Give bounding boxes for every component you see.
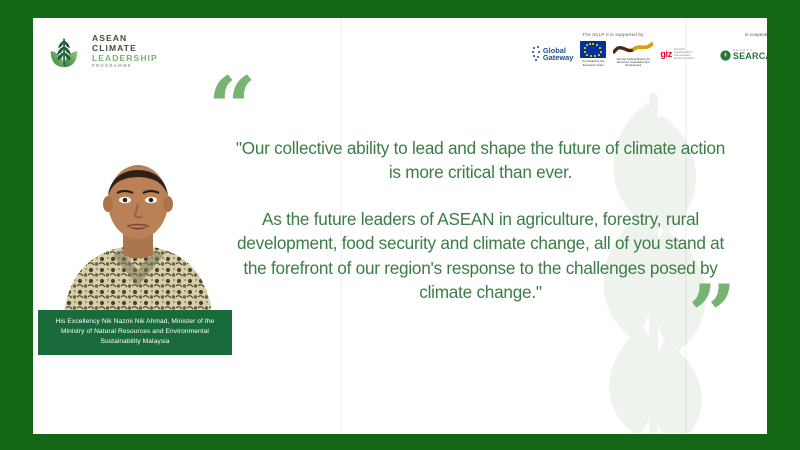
giz-wordmark: giz	[660, 49, 672, 59]
quote-text-block: "Our collective ability to lead and shap…	[228, 136, 733, 305]
giz-logo: giz Deutsche Gesellschaft fur Internatio…	[660, 48, 694, 60]
global-gateway-dots-icon	[532, 46, 541, 62]
slide-card: ASEAN CLIMATE LEADERSHIP PROGRAMME The A…	[33, 18, 767, 434]
supported-by-block: The ACLP II is supported by Global Gatew…	[543, 32, 683, 68]
supported-by-caption: The ACLP II is supported by	[543, 32, 683, 37]
cooperation-caption: In cooperation with	[705, 32, 767, 37]
bmz-logo: German Federal Ministry for Economic Coo…	[613, 41, 653, 68]
brand-line-3: LEADERSHIP	[92, 53, 158, 63]
searca-seal-icon	[720, 50, 731, 61]
eu-flag-icon	[580, 41, 606, 58]
speaker-caption-band: His Excellency Nik Nazmi Nik Ahmad, Mini…	[38, 310, 232, 355]
brand-line-2: CLIMATE	[92, 43, 158, 53]
european-union-logo: Co-funded by the European Union	[580, 41, 606, 67]
giz-caption: Deutsche Gesellschaft fur Internationale…	[674, 48, 694, 60]
eu-caption: Co-funded by the European Union	[580, 60, 606, 67]
speaker-portrait	[55, 146, 221, 326]
cooperation-block: In cooperation with SEARCA SEARCA	[705, 32, 767, 68]
quote-paragraph-2: As the future leaders of ASEAN in agricu…	[228, 207, 733, 305]
brand-logo: ASEAN CLIMATE LEADERSHIP PROGRAMME	[45, 32, 158, 70]
searca-wordmark: SEARCA	[733, 52, 767, 61]
bmz-swoosh-icon	[613, 41, 653, 57]
global-gateway-logo: Global Gateway	[532, 46, 573, 62]
speaker-portrait-wrap	[38, 146, 238, 326]
bmz-caption: German Federal Ministry for Economic Coo…	[613, 58, 653, 68]
speaker-caption-text: His Excellency Nik Nazmi Nik Ahmad, Mini…	[44, 317, 226, 347]
brand-line-1: ASEAN	[92, 33, 158, 43]
searca-logo: SEARCA SEARCA	[720, 49, 767, 61]
plant-circle-emblem-icon	[45, 32, 83, 70]
brand-line-4: PROGRAMME	[92, 64, 158, 69]
quote-close-mark: ”	[688, 274, 736, 358]
global-gateway-line-2: Gateway	[543, 54, 573, 61]
quote-paragraph-1: "Our collective ability to lead and shap…	[228, 136, 733, 185]
